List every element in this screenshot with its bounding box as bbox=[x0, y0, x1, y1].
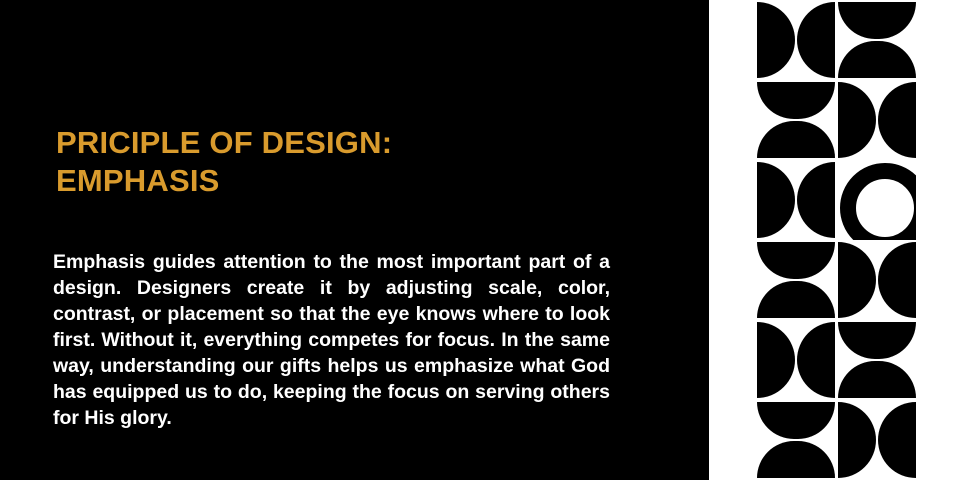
butterfly-half-discs-icon bbox=[757, 0, 835, 80]
butterfly-half-discs-icon bbox=[757, 320, 835, 400]
page-title: PRICIPLE OF DESIGN: EMPHASIS bbox=[56, 124, 656, 200]
pattern-grid bbox=[757, 0, 916, 480]
butterfly-half-discs-icon bbox=[838, 80, 916, 160]
butterfly-half-discs-icon bbox=[838, 240, 916, 320]
hourglass-half-discs-icon bbox=[757, 240, 835, 320]
hourglass-half-discs-icon bbox=[757, 400, 835, 480]
content-panel: PRICIPLE OF DESIGN: EMPHASIS Emphasis gu… bbox=[0, 0, 709, 480]
slide-canvas: PRICIPLE OF DESIGN: EMPHASIS Emphasis gu… bbox=[0, 0, 960, 480]
hourglass-half-discs-icon bbox=[838, 320, 916, 400]
hourglass-half-discs-icon bbox=[838, 0, 916, 80]
butterfly-half-discs-icon bbox=[838, 400, 916, 480]
body-paragraph: Emphasis guides attention to the most im… bbox=[53, 249, 610, 431]
decorative-pattern-panel bbox=[709, 0, 960, 480]
ring-icon bbox=[838, 160, 916, 240]
hourglass-half-discs-icon bbox=[757, 80, 835, 160]
butterfly-half-discs-icon bbox=[757, 160, 835, 240]
